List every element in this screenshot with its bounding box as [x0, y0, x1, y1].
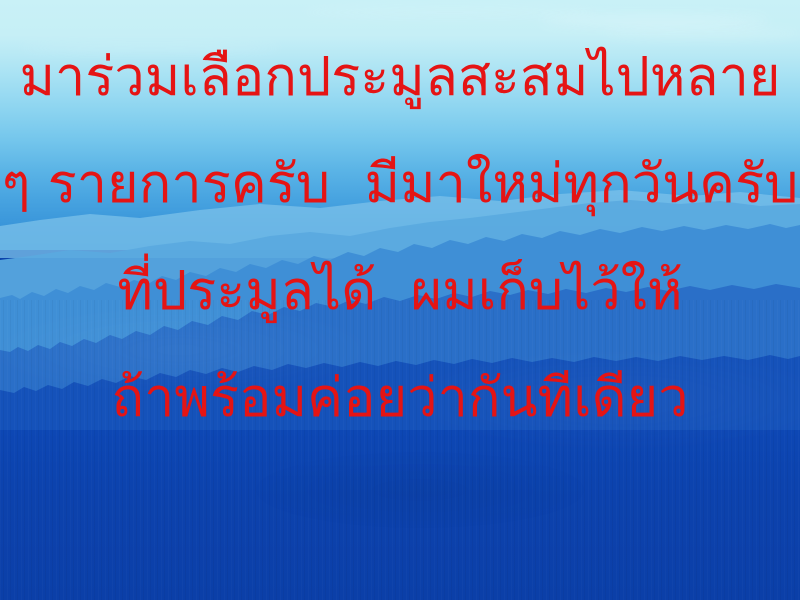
overlay-text: มาร่วมเลือกประมูลสะสมไปหลาย ๆ รายการครับ… [0, 0, 800, 600]
message-line-1: มาร่วมเลือกประมูลสะสมไปหลาย [0, 50, 800, 104]
message-line-4: ถ้าพร้อมค่อยว่ากันทีเดียว [0, 371, 800, 425]
message-line-3: ที่ประมูลได้ ผมเก็บไว้ให้ [0, 264, 800, 318]
banner-image: มาร่วมเลือกประมูลสะสมไปหลาย ๆ รายการครับ… [0, 0, 800, 600]
message-line-2: ๆ รายการครับ มีมาใหม่ทุกวันครับ [0, 157, 800, 211]
